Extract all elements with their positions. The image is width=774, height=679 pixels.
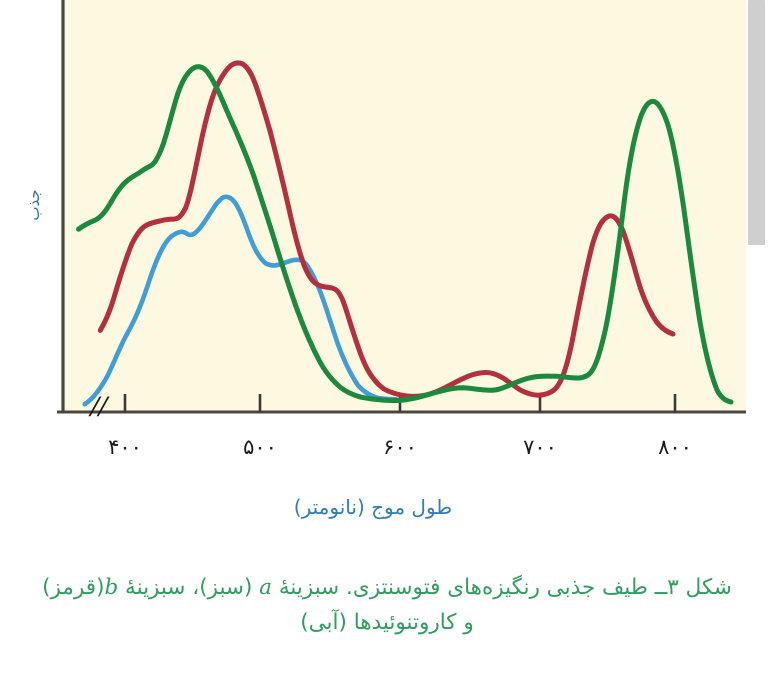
x-tick-label-400: ۴۰۰ xyxy=(108,435,142,459)
x-tick-label-500: ۵۰۰ xyxy=(243,435,277,459)
scrollbar-thumb[interactable] xyxy=(748,0,765,245)
caption-seg-3: (قرمز) xyxy=(42,575,104,600)
caption-chlorophyll-b-symbol: b xyxy=(104,575,118,600)
plot-background xyxy=(63,0,746,412)
x-tick-label-600: ۶۰۰ xyxy=(383,435,417,459)
caption-seg-2: (سبز)، سبزینهٔ xyxy=(118,575,259,600)
figure-caption: شکل ۳ــ طیف جذبی رنگیزه‌های فتوسنتزی. سب… xyxy=(28,570,746,641)
absorption-spectrum-figure: جذب xyxy=(0,0,746,470)
plot-area: // ۴۰۰ ۵۰۰ ۶۰۰ ۷۰۰ ۸۰۰ xyxy=(33,0,746,425)
spectrum-chart-svg xyxy=(33,0,746,425)
caption-line-1: شکل ۳ــ طیف جذبی رنگیزه‌های فتوسنتزی. سب… xyxy=(28,570,746,605)
caption-seg-1: شکل ۳ــ طیف جذبی رنگیزه‌های فتوسنتزی. سب… xyxy=(272,575,732,600)
page-root: جذب xyxy=(0,0,774,679)
x-tick-label-800: ۸۰۰ xyxy=(658,435,692,459)
caption-line-2: و کاروتنوئیدها (آبی) xyxy=(28,605,746,640)
x-axis-title: طول موج (نانومتر) xyxy=(0,495,746,519)
caption-chlorophyll-a-symbol: a xyxy=(259,575,272,600)
x-tick-label-700: ۷۰۰ xyxy=(523,435,557,459)
